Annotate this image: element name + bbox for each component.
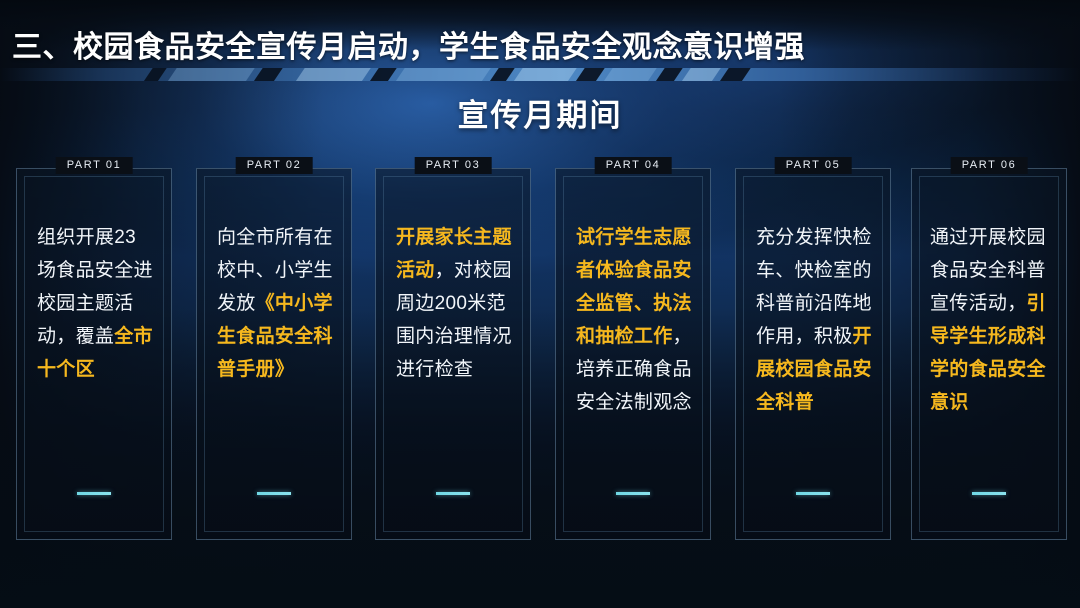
part-label: PART 06 [951,157,1028,174]
card-divider-dash [796,492,830,495]
card-divider-dash [257,492,291,495]
part-card-02[interactable]: PART 02 向全市所有在校中、小学生发放《中小学生食品安全科普手册》 [196,168,352,540]
part-card-04[interactable]: PART 04 试行学生志愿者体验食品安全监管、执法和抽检工作，培养正确食品安全… [555,168,711,540]
card-divider-dash [972,492,1006,495]
card-divider-dash [77,492,111,495]
card-text: 充分发挥快检车、快检室的科普前沿阵地作用，积极开展校园食品安全科普 [756,221,874,419]
part-card-06[interactable]: PART 06 通过开展校园食品安全科普宣传活动，引导学生形成科学的食品安全意识 [911,168,1067,540]
part-label: PART 05 [775,157,852,174]
part-card-05[interactable]: PART 05 充分发挥快检车、快检室的科普前沿阵地作用，积极开展校园食品安全科… [735,168,891,540]
part-card-01[interactable]: PART 01 组织开展23场食品安全进校园主题活动，覆盖全市十个区 [16,168,172,540]
part-card-row: PART 01 组织开展23场食品安全进校园主题活动，覆盖全市十个区 PART … [0,0,1080,608]
part-label: PART 02 [236,157,313,174]
slide-stage: 三、校园食品安全宣传月启动，学生食品安全观念意识增强 宣传月期间 PART 01… [0,0,1080,608]
card-text: 开展家长主题活动，对校园周边200米范围内治理情况进行检查 [396,221,514,386]
card-divider-dash [436,492,470,495]
card-text: 通过开展校园食品安全科普宣传活动，引导学生形成科学的食品安全意识 [930,221,1054,419]
card-divider-dash [616,492,650,495]
part-label: PART 04 [595,157,672,174]
part-card-03[interactable]: PART 03 开展家长主题活动，对校园周边200米范围内治理情况进行检查 [375,168,531,540]
part-label: PART 03 [415,157,492,174]
part-label: PART 01 [56,157,133,174]
card-text: 向全市所有在校中、小学生发放《中小学生食品安全科普手册》 [217,221,335,386]
card-text: 试行学生志愿者体验食品安全监管、执法和抽检工作，培养正确食品安全法制观念 [576,221,694,419]
card-text: 组织开展23场食品安全进校园主题活动，覆盖全市十个区 [37,221,155,386]
